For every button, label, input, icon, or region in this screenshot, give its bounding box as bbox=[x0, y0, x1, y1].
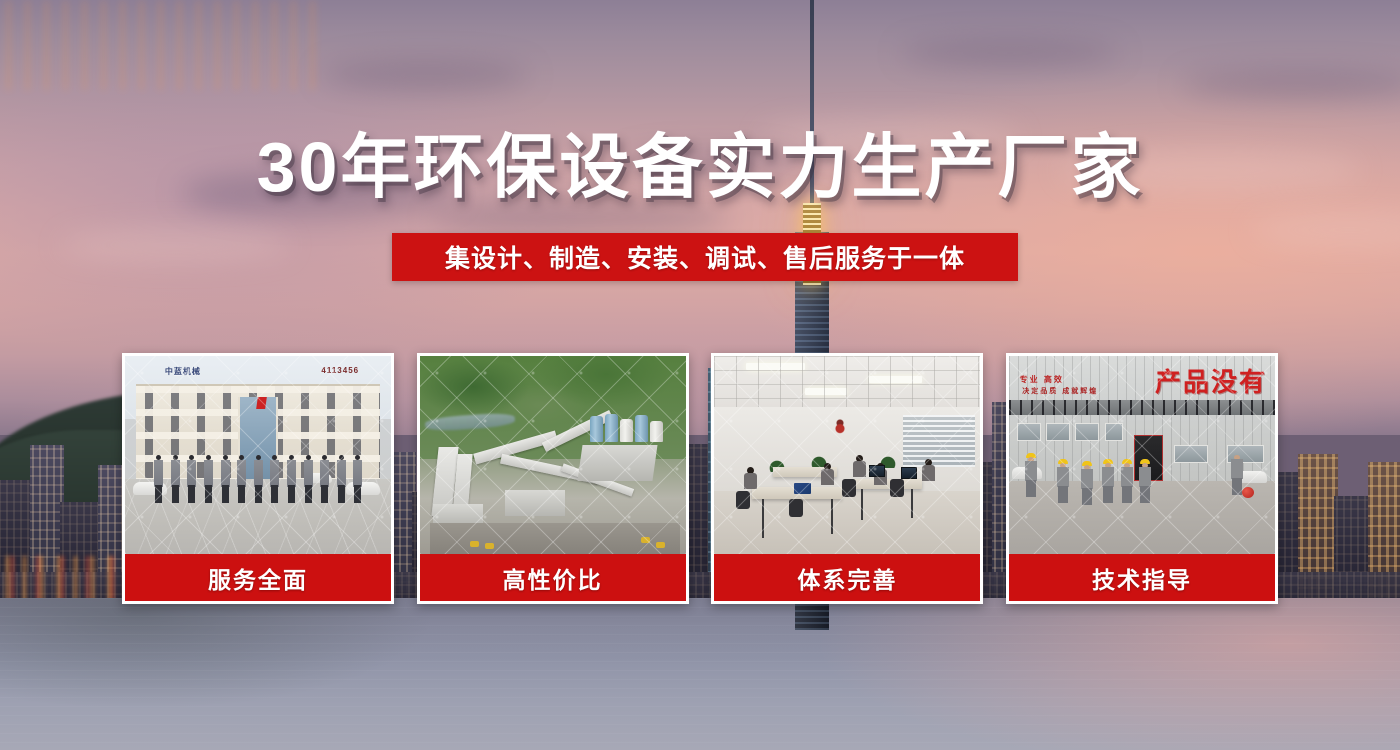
factory-slogan-secondary: 决定品质 成就辉煌 bbox=[1022, 386, 1098, 396]
card-label-guidance: 技术指导 bbox=[1009, 554, 1275, 601]
office-window bbox=[903, 415, 975, 466]
card-label-system: 体系完善 bbox=[714, 554, 980, 601]
card-label-text: 体系完善 bbox=[797, 561, 897, 595]
card-label-text: 服务全面 bbox=[208, 561, 308, 595]
water-ripples bbox=[0, 598, 1400, 750]
feature-card-service[interactable]: 中蓝机械 4113456 bbox=[122, 353, 394, 604]
card-photo-workers: 产品没有 专业 高效 决定品质 成就辉煌 bbox=[1009, 356, 1275, 554]
card-label-service: 服务全面 bbox=[125, 554, 391, 601]
headline-container: 30年环保设备实力生产厂家 bbox=[0, 132, 1400, 202]
promo-banner: 30年环保设备实力生产厂家 集设计、制造、安装、调试、售后服务于一体 中蓝机械 … bbox=[0, 0, 1400, 750]
building-phone-number: 4113456 bbox=[321, 366, 359, 375]
card-label-value: 高性价比 bbox=[420, 554, 686, 601]
card-photo-plant-aerial bbox=[420, 356, 686, 554]
subtitle-banner: 集设计、制造、安装、调试、售后服务于一体 bbox=[392, 233, 1018, 281]
factory-banner-text: 产品没有 bbox=[1155, 362, 1267, 399]
staff-lineup bbox=[154, 455, 362, 503]
building-signage: 中蓝机械 bbox=[165, 366, 201, 377]
wall-logo bbox=[829, 417, 851, 437]
factory-slogan-primary: 专业 高效 bbox=[1020, 374, 1064, 385]
page-title: 30年环保设备实力生产厂家 bbox=[257, 132, 1144, 202]
feature-card-system[interactable]: 体系完善 bbox=[711, 353, 983, 604]
card-label-text: 技术指导 bbox=[1092, 561, 1192, 595]
plant-structures bbox=[430, 435, 680, 554]
feature-card-row: 中蓝机械 4113456 bbox=[122, 353, 1278, 604]
subtitle-text: 集设计、制造、安装、调试、售后服务于一体 bbox=[445, 239, 965, 275]
feature-card-guidance[interactable]: 产品没有 专业 高效 决定品质 成就辉煌 bbox=[1006, 353, 1278, 604]
card-photo-headquarters: 中蓝机械 4113456 bbox=[125, 356, 391, 554]
water-light-reflection bbox=[0, 0, 330, 90]
card-photo-office bbox=[714, 356, 980, 554]
card-label-text: 高性价比 bbox=[503, 561, 603, 595]
feature-card-value[interactable]: 高性价比 bbox=[417, 353, 689, 604]
red-helmet-icon bbox=[1242, 487, 1254, 498]
